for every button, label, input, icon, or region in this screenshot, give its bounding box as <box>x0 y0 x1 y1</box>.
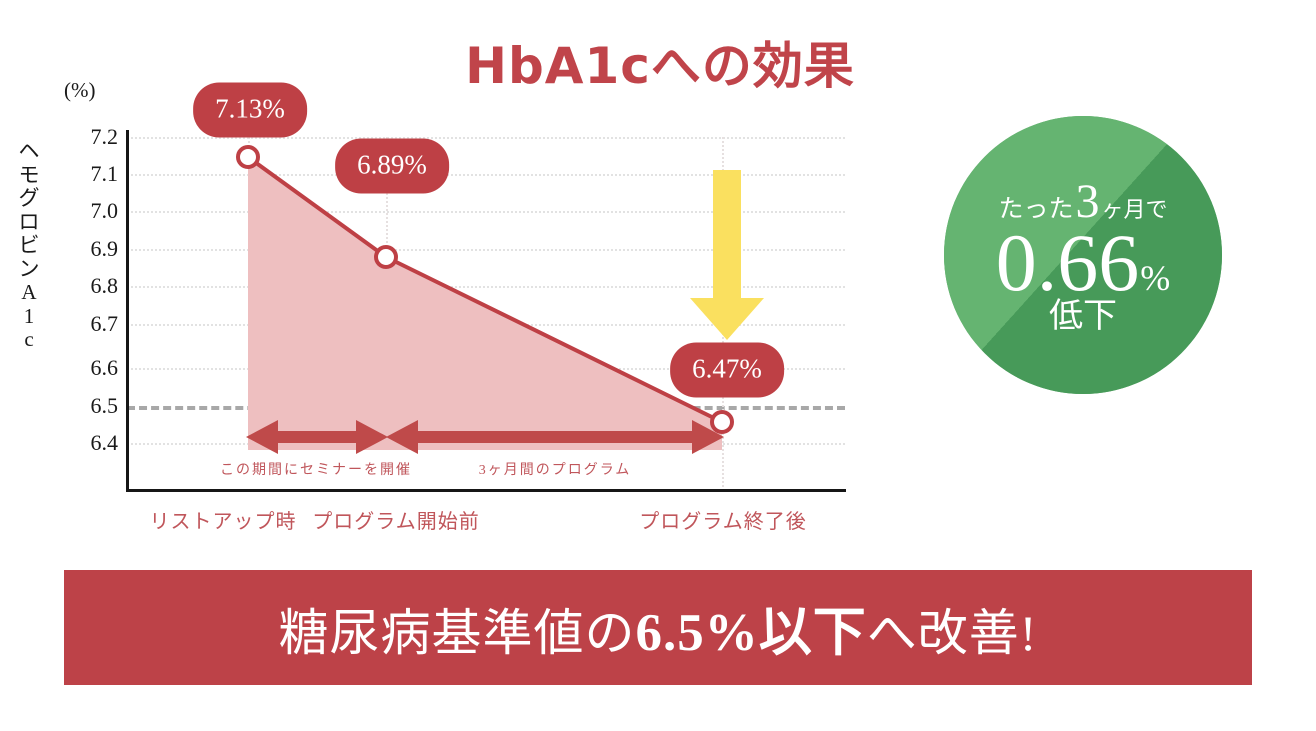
hba1c-line-chart: (%) ヘ モ グ ロ ビ ン A 1 c 7.2 7.1 7.0 6.9 <box>0 0 900 560</box>
annotation-seminar-period: この期間にセミナーを開催 <box>220 459 412 479</box>
badge-suffix: 低下 <box>1049 300 1117 334</box>
x-category-label: プログラム終了後 <box>639 505 806 534</box>
data-label-pill: 6.89% <box>335 139 449 194</box>
data-point-marker[interactable] <box>238 147 258 167</box>
badge-value-row: 0.66 % <box>996 224 1171 302</box>
badge-percent-sign: % <box>1140 261 1170 295</box>
result-badge: たった 3 ヶ月で 0.66 % 低下 <box>944 116 1222 394</box>
badge-content: たった 3 ヶ月で 0.66 % 低下 <box>944 116 1222 394</box>
banner-part-3: へ改善! <box>867 593 1038 665</box>
data-label-pill: 7.13% <box>193 83 307 138</box>
banner-part-highlight: 6.5%以下 <box>636 590 867 666</box>
x-category-label: プログラム開始前 <box>312 505 479 534</box>
data-label-pill: 6.47% <box>670 343 784 398</box>
x-category-label: リストアップ時 <box>150 505 297 534</box>
summary-banner-text: 糖尿病基準値の 6.5%以下 へ改善! <box>279 590 1038 666</box>
data-point-marker[interactable] <box>712 412 732 432</box>
banner-part-1: 糖尿病基準値の <box>279 593 636 665</box>
badge-value-number: 0.66 <box>996 224 1140 302</box>
infographic-canvas: HbA1cへの効果 (%) ヘ モ グ ロ ビ ン A 1 c 7.2 7 <box>0 0 1316 731</box>
data-point-marker[interactable] <box>376 247 396 267</box>
summary-banner: 糖尿病基準値の 6.5%以下 へ改善! <box>64 570 1252 685</box>
y-axis-line <box>126 130 129 490</box>
annotation-program-period: 3ヶ月間のプログラム <box>479 459 632 479</box>
down-arrow-icon <box>690 170 764 340</box>
x-axis-line <box>126 489 846 492</box>
plot-area <box>0 0 900 560</box>
